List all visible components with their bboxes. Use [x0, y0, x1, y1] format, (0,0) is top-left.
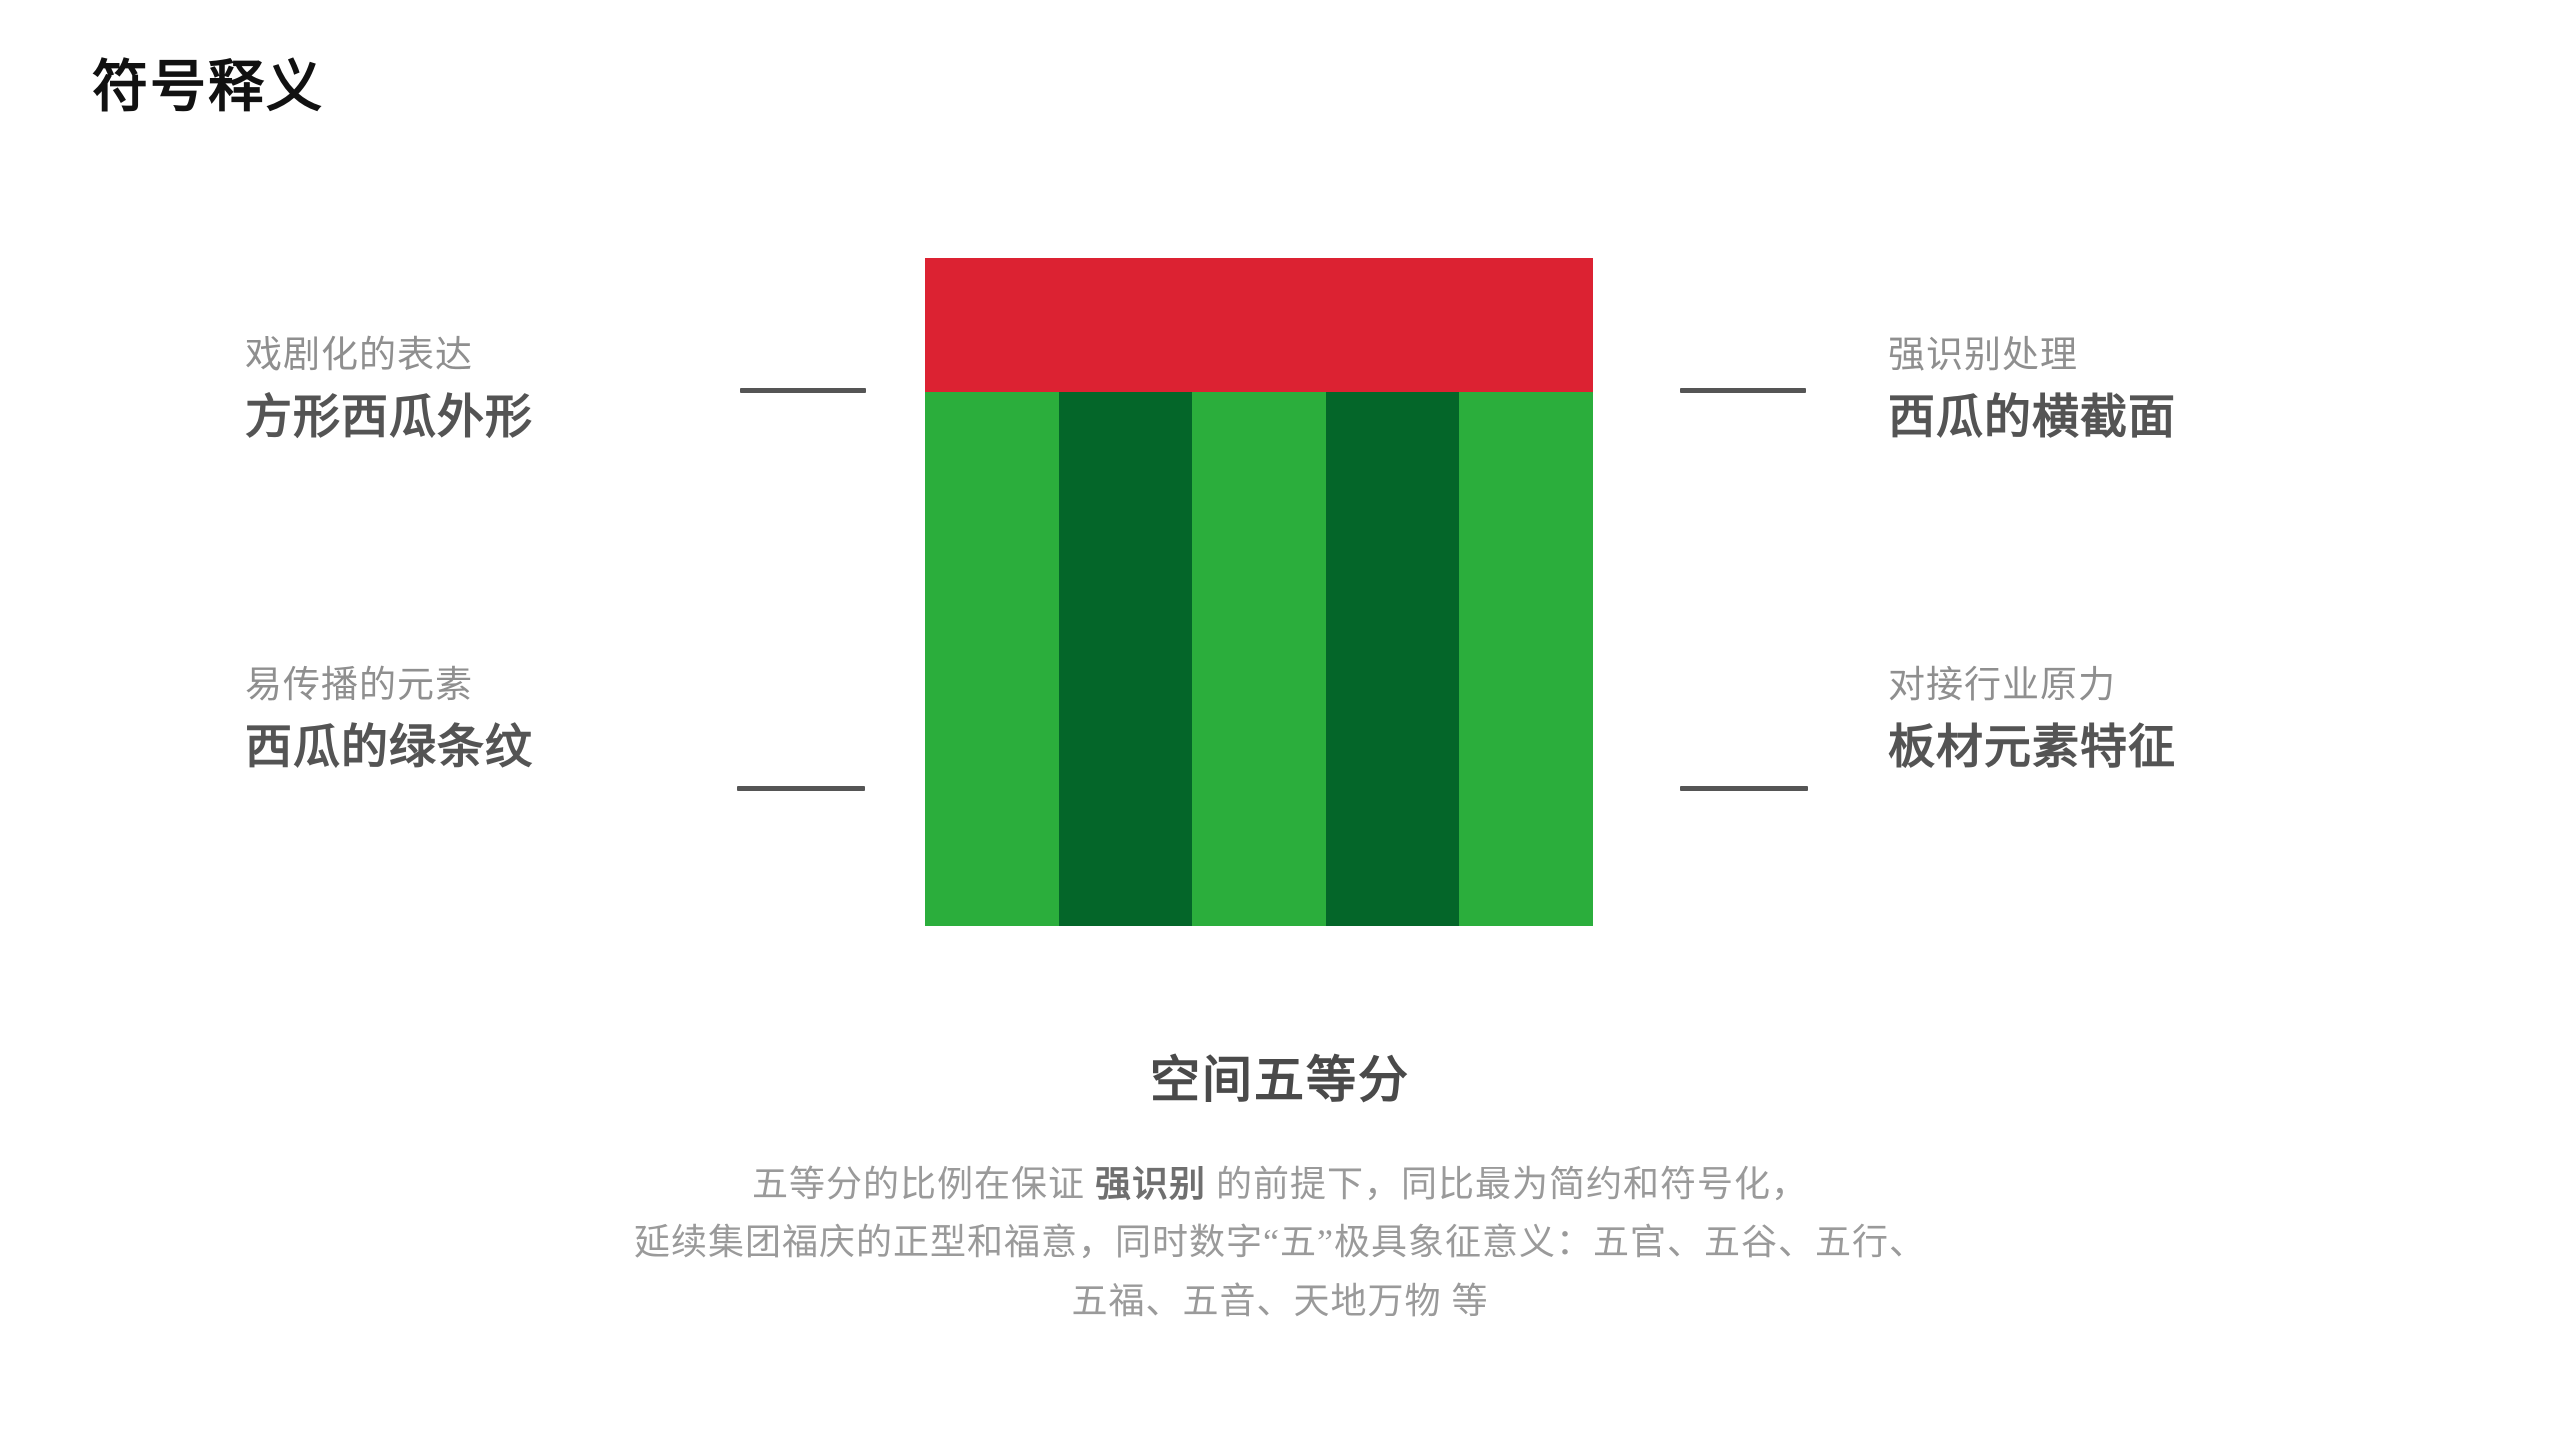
caption-line-3: 五福、五音、天地万物 等: [0, 1272, 2560, 1330]
callout-top-right-title: 西瓜的横截面: [1888, 386, 2176, 447]
watermelon-stripe-1: [925, 392, 1059, 926]
callout-bottom-right-subtitle: 对接行业原力: [1888, 660, 2176, 710]
callout-bottom-left-subtitle: 易传播的元素: [245, 660, 533, 710]
watermelon-stripe-4: [1326, 392, 1460, 926]
callout-bottom-right-title: 板材元素特征: [1888, 716, 2176, 777]
callout-top-left: 戏剧化的表达 方形西瓜外形: [245, 330, 533, 447]
connector-line-bottom-left: [737, 786, 865, 791]
caption-title: 空间五等分: [0, 1040, 2560, 1112]
caption-line-1-emphasis: 强识别: [1095, 1164, 1206, 1204]
caption-body: 五等分的比例在保证 强识别 的前提下，同比最为简约和符号化， 延续集团福庆的正型…: [0, 1155, 2560, 1330]
connector-line-top-right: [1680, 388, 1806, 393]
caption-line-2: 延续集团福庆的正型和福意，同时数字“五”极具象征意义：五官、五谷、五行、: [0, 1213, 2560, 1271]
watermelon-stripe-5: [1459, 392, 1593, 926]
callout-bottom-left-title: 西瓜的绿条纹: [245, 716, 533, 777]
watermelon-stripe-3: [1192, 392, 1326, 926]
callout-top-left-title: 方形西瓜外形: [245, 386, 533, 447]
watermelon-stripe-group: [925, 392, 1593, 926]
caption-line-1-after: 的前提下，同比最为简约和符号化，: [1206, 1164, 1808, 1204]
callout-top-right: 强识别处理 西瓜的横截面: [1888, 330, 2176, 447]
callout-bottom-left: 易传播的元素 西瓜的绿条纹: [245, 660, 533, 777]
connector-line-top-left: [740, 388, 866, 393]
square-watermelon-symbol: [925, 258, 1593, 926]
callout-top-right-subtitle: 强识别处理: [1888, 330, 2176, 380]
caption-line-1-before: 五等分的比例在保证: [752, 1164, 1095, 1204]
page-title: 符号释义: [92, 58, 324, 120]
watermelon-rind-band: [925, 258, 1593, 392]
watermelon-stripe-2: [1059, 392, 1193, 926]
callout-bottom-right: 对接行业原力 板材元素特征: [1888, 660, 2176, 777]
callout-top-left-subtitle: 戏剧化的表达: [245, 330, 533, 380]
caption-line-1: 五等分的比例在保证 强识别 的前提下，同比最为简约和符号化，: [0, 1155, 2560, 1213]
connector-line-bottom-right: [1680, 786, 1808, 791]
